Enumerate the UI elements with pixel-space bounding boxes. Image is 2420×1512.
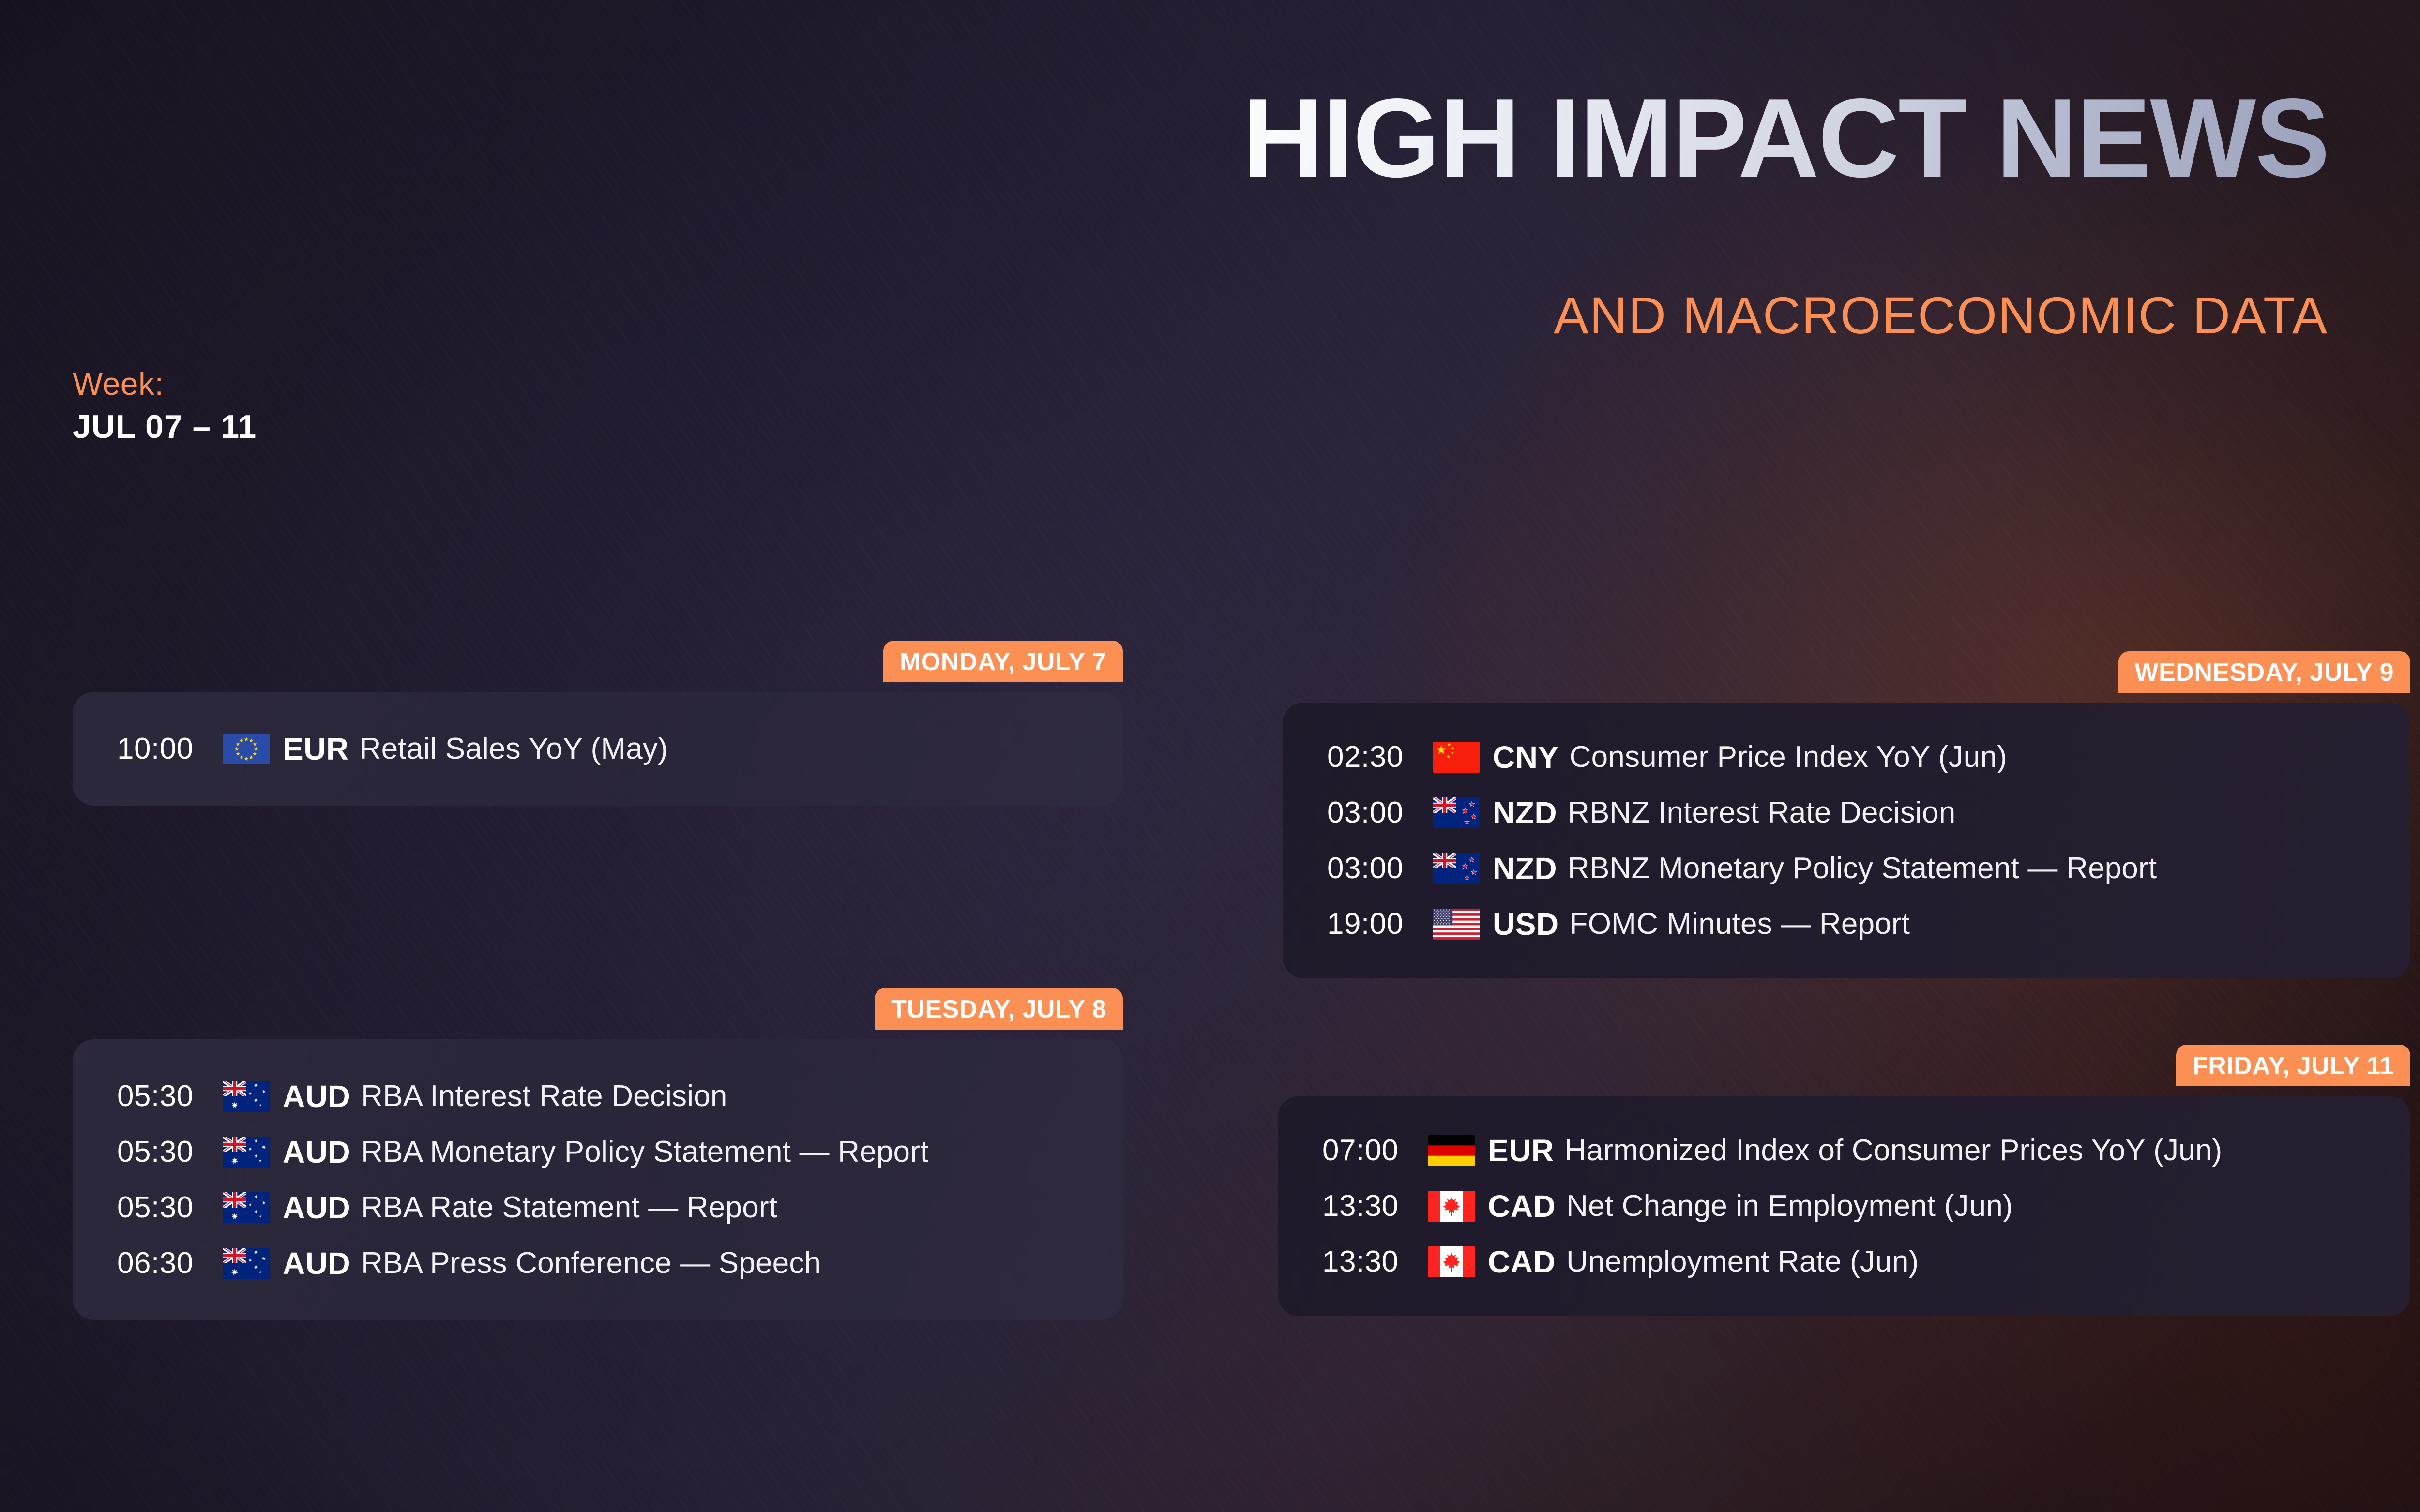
event-name: Unemployment Rate (Jun) — [1566, 1244, 1919, 1279]
event-time: 13:30 — [1322, 1244, 1415, 1279]
event-currency: CNY — [1493, 739, 1559, 775]
eu-flag-icon — [210, 734, 283, 764]
event-currency: USD — [1493, 906, 1559, 942]
ca-flag-icon — [1415, 1246, 1488, 1277]
event-row[interactable]: 13:30 CADNet Change in Employment (Jun) — [1278, 1178, 2410, 1234]
event-currency: EUR — [1488, 1133, 1554, 1168]
event-name: RBA Rate Statement — Report — [361, 1190, 777, 1225]
event-name: RBA Monetary Policy Statement — Report — [361, 1135, 928, 1169]
event-row[interactable]: 03:00 NZDRBNZ Monetary Policy Statement … — [1283, 840, 2410, 896]
week-range: JUL 07 – 11 — [73, 410, 257, 443]
event-currency: NZD — [1493, 795, 1557, 831]
event-time: 03:00 — [1327, 795, 1420, 830]
event-row[interactable]: 10:00EURRetail Sales YoY (May) — [73, 721, 1123, 777]
event-time: 03:00 — [1327, 851, 1420, 885]
event-currency: AUD — [283, 1078, 350, 1114]
event-time: 05:30 — [117, 1135, 210, 1169]
event-currency: NZD — [1493, 851, 1557, 886]
day-tab[interactable]: WEDNESDAY, JULY 9 — [2118, 651, 2410, 693]
event-currency: CAD — [1488, 1188, 1556, 1224]
us-flag-icon — [1420, 909, 1493, 940]
day-card: WEDNESDAY, JULY 902:30CNYConsumer Price … — [1283, 651, 2410, 978]
day-card: MONDAY, JULY 710:00EURRetail Sales YoY (… — [73, 641, 1123, 806]
event-name: Consumer Price Index YoY (Jun) — [1570, 740, 2007, 774]
au-flag-icon — [210, 1081, 283, 1112]
event-time: 05:30 — [117, 1190, 210, 1225]
event-name: Net Change in Employment (Jun) — [1566, 1189, 2013, 1223]
event-time: 10:00 — [117, 732, 210, 766]
event-row[interactable]: 05:30 AUDRBA Rate Statement — Report — [73, 1180, 1123, 1235]
de-flag-icon — [1415, 1135, 1488, 1166]
nz-flag-icon — [1420, 853, 1493, 884]
week-label: Week: — [73, 368, 257, 400]
event-row[interactable]: 07:00 EURHarmonized Index of Consumer Pr… — [1278, 1123, 2410, 1178]
event-time: 07:00 — [1322, 1133, 1415, 1168]
event-time: 19:00 — [1327, 907, 1420, 941]
cn-flag-icon — [1420, 742, 1493, 773]
event-row[interactable]: 13:30 CADUnemployment Rate (Jun) — [1278, 1234, 2410, 1289]
ca-flag-icon — [1415, 1191, 1488, 1222]
event-currency: AUD — [283, 1134, 350, 1170]
event-name: RBA Interest Rate Decision — [361, 1079, 727, 1113]
day-event-list: 02:30CNYConsumer Price Index YoY (Jun)03… — [1283, 703, 2410, 978]
day-tab[interactable]: FRIDAY, JULY 11 — [2176, 1045, 2410, 1086]
event-row[interactable]: 02:30CNYConsumer Price Index YoY (Jun) — [1283, 729, 2410, 785]
event-time: 13:30 — [1322, 1189, 1415, 1223]
day-tab[interactable]: MONDAY, JULY 7 — [883, 641, 1123, 682]
event-time: 06:30 — [117, 1246, 210, 1280]
event-row[interactable]: 06:30 AUDRBA Press Conference — Speech — [73, 1235, 1123, 1291]
event-name: RBNZ Interest Rate Decision — [1568, 795, 1955, 830]
day-event-list: 05:30 AUDRBA Interest Rate Decision05:30… — [73, 1039, 1123, 1320]
day-card: FRIDAY, JULY 1107:00 EURHarmonized Index… — [1278, 1045, 2410, 1316]
nz-flag-icon — [1420, 797, 1493, 828]
au-flag-icon — [210, 1192, 283, 1223]
event-currency: AUD — [283, 1245, 350, 1281]
page-title: HIGH IMPACT NEWS — [1242, 82, 2329, 195]
day-event-list: 10:00EURRetail Sales YoY (May) — [73, 692, 1123, 806]
event-currency: EUR — [283, 731, 349, 767]
poster-canvas: HIGH IMPACT NEWS AND MACROECONOMIC DATA … — [0, 0, 2420, 1512]
event-time: 05:30 — [117, 1079, 210, 1113]
au-flag-icon — [210, 1248, 283, 1279]
event-row[interactable]: 05:30 AUDRBA Monetary Policy Statement —… — [73, 1124, 1123, 1180]
day-event-list: 07:00 EURHarmonized Index of Consumer Pr… — [1278, 1096, 2410, 1316]
event-currency: CAD — [1488, 1244, 1556, 1280]
event-name: RBNZ Monetary Policy Statement — Report — [1568, 851, 2157, 885]
au-flag-icon — [210, 1137, 283, 1168]
event-row[interactable]: 05:30 AUDRBA Interest Rate Decision — [73, 1068, 1123, 1124]
event-time: 02:30 — [1327, 740, 1420, 774]
event-name: Harmonized Index of Consumer Prices YoY … — [1565, 1133, 2223, 1168]
week-block: Week: JUL 07 – 11 — [73, 368, 257, 443]
event-row[interactable]: 19:00USDFOMC Minutes — Report — [1283, 896, 2410, 952]
event-row[interactable]: 03:00 NZDRBNZ Interest Rate Decision — [1283, 785, 2410, 840]
page-subtitle: AND MACROECONOMIC DATA — [1554, 289, 2328, 342]
day-tab[interactable]: TUESDAY, JULY 8 — [875, 988, 1123, 1030]
day-card: TUESDAY, JULY 805:30 AUDRBA Interest Rat… — [73, 988, 1123, 1320]
event-currency: AUD — [283, 1190, 350, 1226]
event-name: FOMC Minutes — Report — [1570, 907, 1910, 941]
event-name: Retail Sales YoY (May) — [360, 732, 668, 766]
event-name: RBA Press Conference — Speech — [361, 1246, 821, 1280]
